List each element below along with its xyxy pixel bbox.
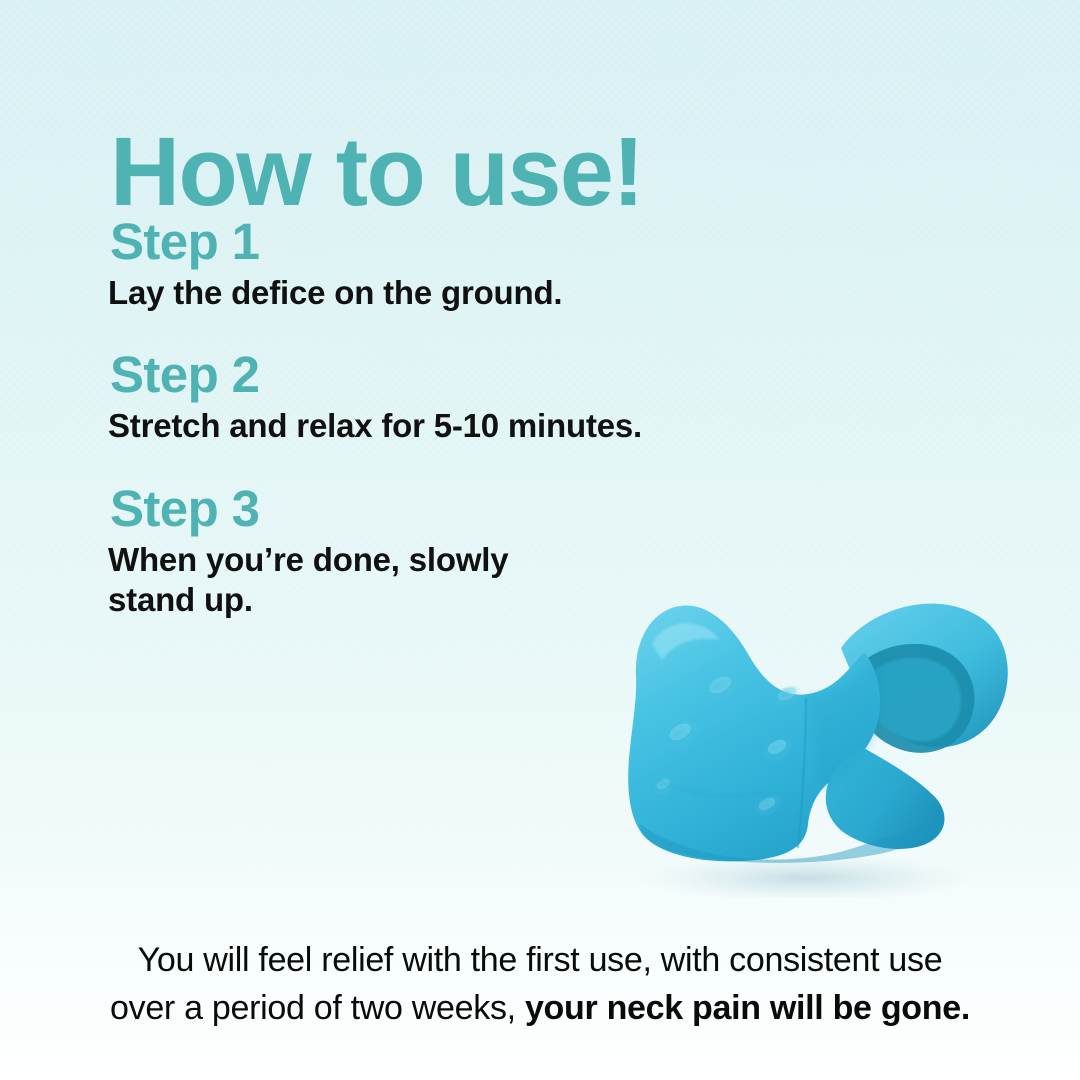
neck-stretcher-icon bbox=[596, 548, 1016, 898]
step-item-2: Step 2 Stretch and relax for 5-10 minute… bbox=[108, 347, 728, 446]
step-1-label: Step 1 bbox=[110, 214, 728, 269]
page-title: How to use! bbox=[110, 121, 643, 223]
footer-line-2-bold: your neck pain will be gone. bbox=[525, 989, 970, 1027]
step-1-text: Lay the defice on the ground. bbox=[108, 273, 668, 313]
step-item-1: Step 1 Lay the defice on the ground. bbox=[108, 214, 728, 313]
step-3-label: Step 3 bbox=[110, 481, 728, 536]
step-3-text: When you’re done, slowly stand up. bbox=[108, 540, 538, 621]
footer-line-2: over a period of two weeks, your neck pa… bbox=[60, 984, 1020, 1032]
footer-line-2-normal: over a period of two weeks, bbox=[110, 989, 525, 1027]
step-2-label: Step 2 bbox=[110, 347, 728, 402]
product-image bbox=[596, 548, 1016, 898]
footer-caption: You will feel relief with the first use,… bbox=[0, 936, 1080, 1033]
poster-canvas: How to use! Step 1 Lay the defice on the… bbox=[0, 0, 1080, 1080]
step-2-text: Stretch and relax for 5-10 minutes. bbox=[108, 406, 668, 446]
footer-line-1: You will feel relief with the first use,… bbox=[60, 936, 1020, 984]
